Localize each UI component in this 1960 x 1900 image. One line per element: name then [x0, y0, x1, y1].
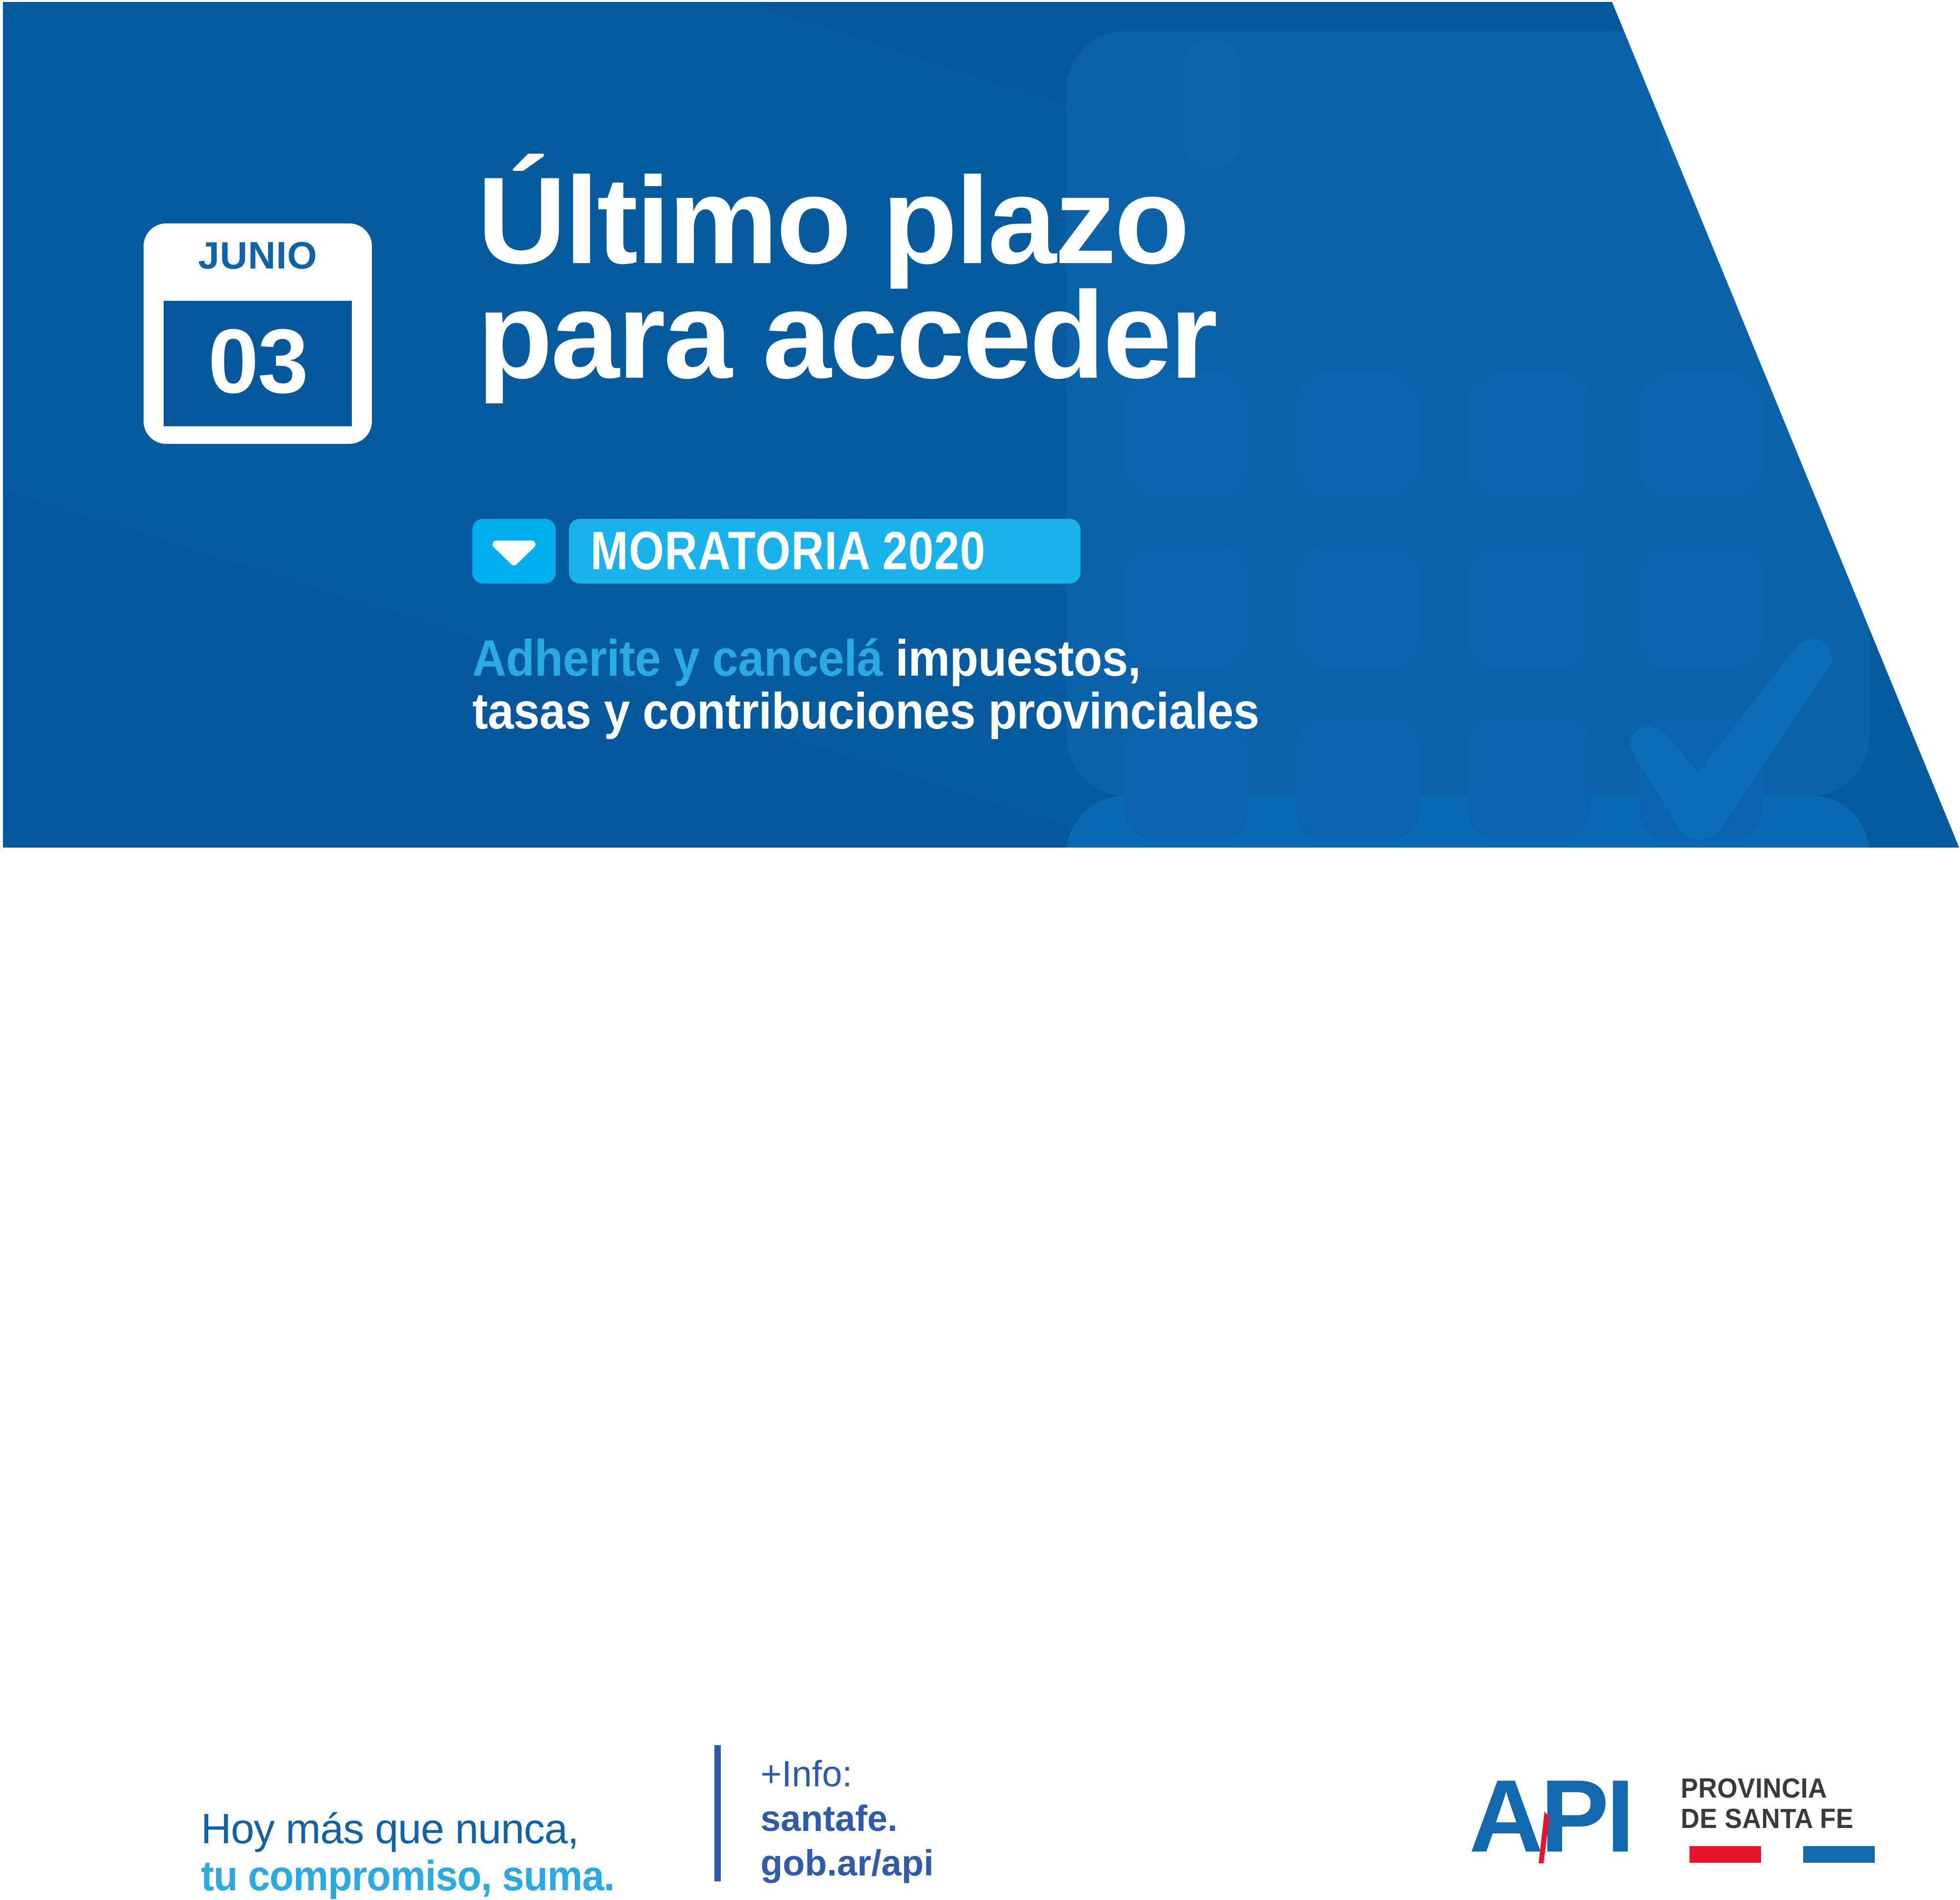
- province-flag-bars: [1681, 1846, 1877, 1863]
- badge-label: MORATORIA 2020: [590, 524, 986, 578]
- subtitle-accent: Adherite y cancelá: [472, 630, 882, 687]
- province-bar-red: [1690, 1846, 1761, 1863]
- page-title: Último plazo para acceder: [477, 164, 1604, 393]
- province-logo: PROVINCIA DE SANTA FE: [1681, 1774, 1891, 1867]
- slogan-line-1: Hoy más que nunca,: [201, 1805, 641, 1852]
- watermark-ring-left: [1184, 40, 1242, 168]
- subtitle-line-1: Adherite y cancelá impuestos,: [472, 632, 1509, 685]
- slogan-line-2: tu compromiso, suma.: [201, 1852, 614, 1900]
- calendar-icon: JUNIO 03: [144, 223, 372, 444]
- footer-bar: Hoy más que nunca, tu compromiso, suma. …: [0, 848, 1960, 1102]
- province-line-2: DE SANTA FE: [1681, 1804, 1877, 1834]
- badge-arrow-box: [472, 519, 556, 584]
- province-bar-blue: [1803, 1846, 1875, 1863]
- footer-divider: [714, 1745, 721, 1881]
- info-block: +Info: santafe. gob.ar/api: [760, 1752, 934, 1885]
- watermark-check-icon: [1620, 634, 1845, 845]
- subtitle-rest: impuestos,: [882, 630, 1141, 687]
- subtitle-line-2: tasas y contribuciones provinciales: [472, 685, 1509, 738]
- info-label: +Info:: [760, 1752, 934, 1796]
- moratoria-badge: MORATORIA 2020: [472, 519, 1080, 584]
- slogan: Hoy más que nunca, tu compromiso, suma.: [201, 1805, 641, 1900]
- headline-line-2: para acceder: [477, 278, 1604, 393]
- headline-line-1: Último plazo: [477, 164, 1604, 278]
- calendar-month-label: JUNIO: [144, 236, 372, 274]
- badge-pill: MORATORIA 2020: [569, 519, 1080, 584]
- province-line-1: PROVINCIA: [1681, 1774, 1877, 1804]
- info-url-line-2[interactable]: gob.ar/api: [760, 1841, 934, 1885]
- calendar-day-label: 03: [164, 316, 352, 407]
- info-url-line-1[interactable]: santafe.: [760, 1796, 934, 1841]
- calendar-day-box: 03: [164, 301, 352, 426]
- subtitle: Adherite y cancelá impuestos, tasas y co…: [472, 632, 1599, 738]
- api-logo: API: [1469, 1765, 1626, 1863]
- api-logo-text: API: [1469, 1765, 1632, 1868]
- hero-panel: JUNIO 03 Último plazo para acceder MORAT…: [3, 2, 1960, 848]
- watermark-grid-cell: [1640, 374, 1762, 497]
- triangle-down-icon: [491, 538, 537, 566]
- poster-root: JUNIO 03 Último plazo para acceder MORAT…: [0, 0, 1960, 1102]
